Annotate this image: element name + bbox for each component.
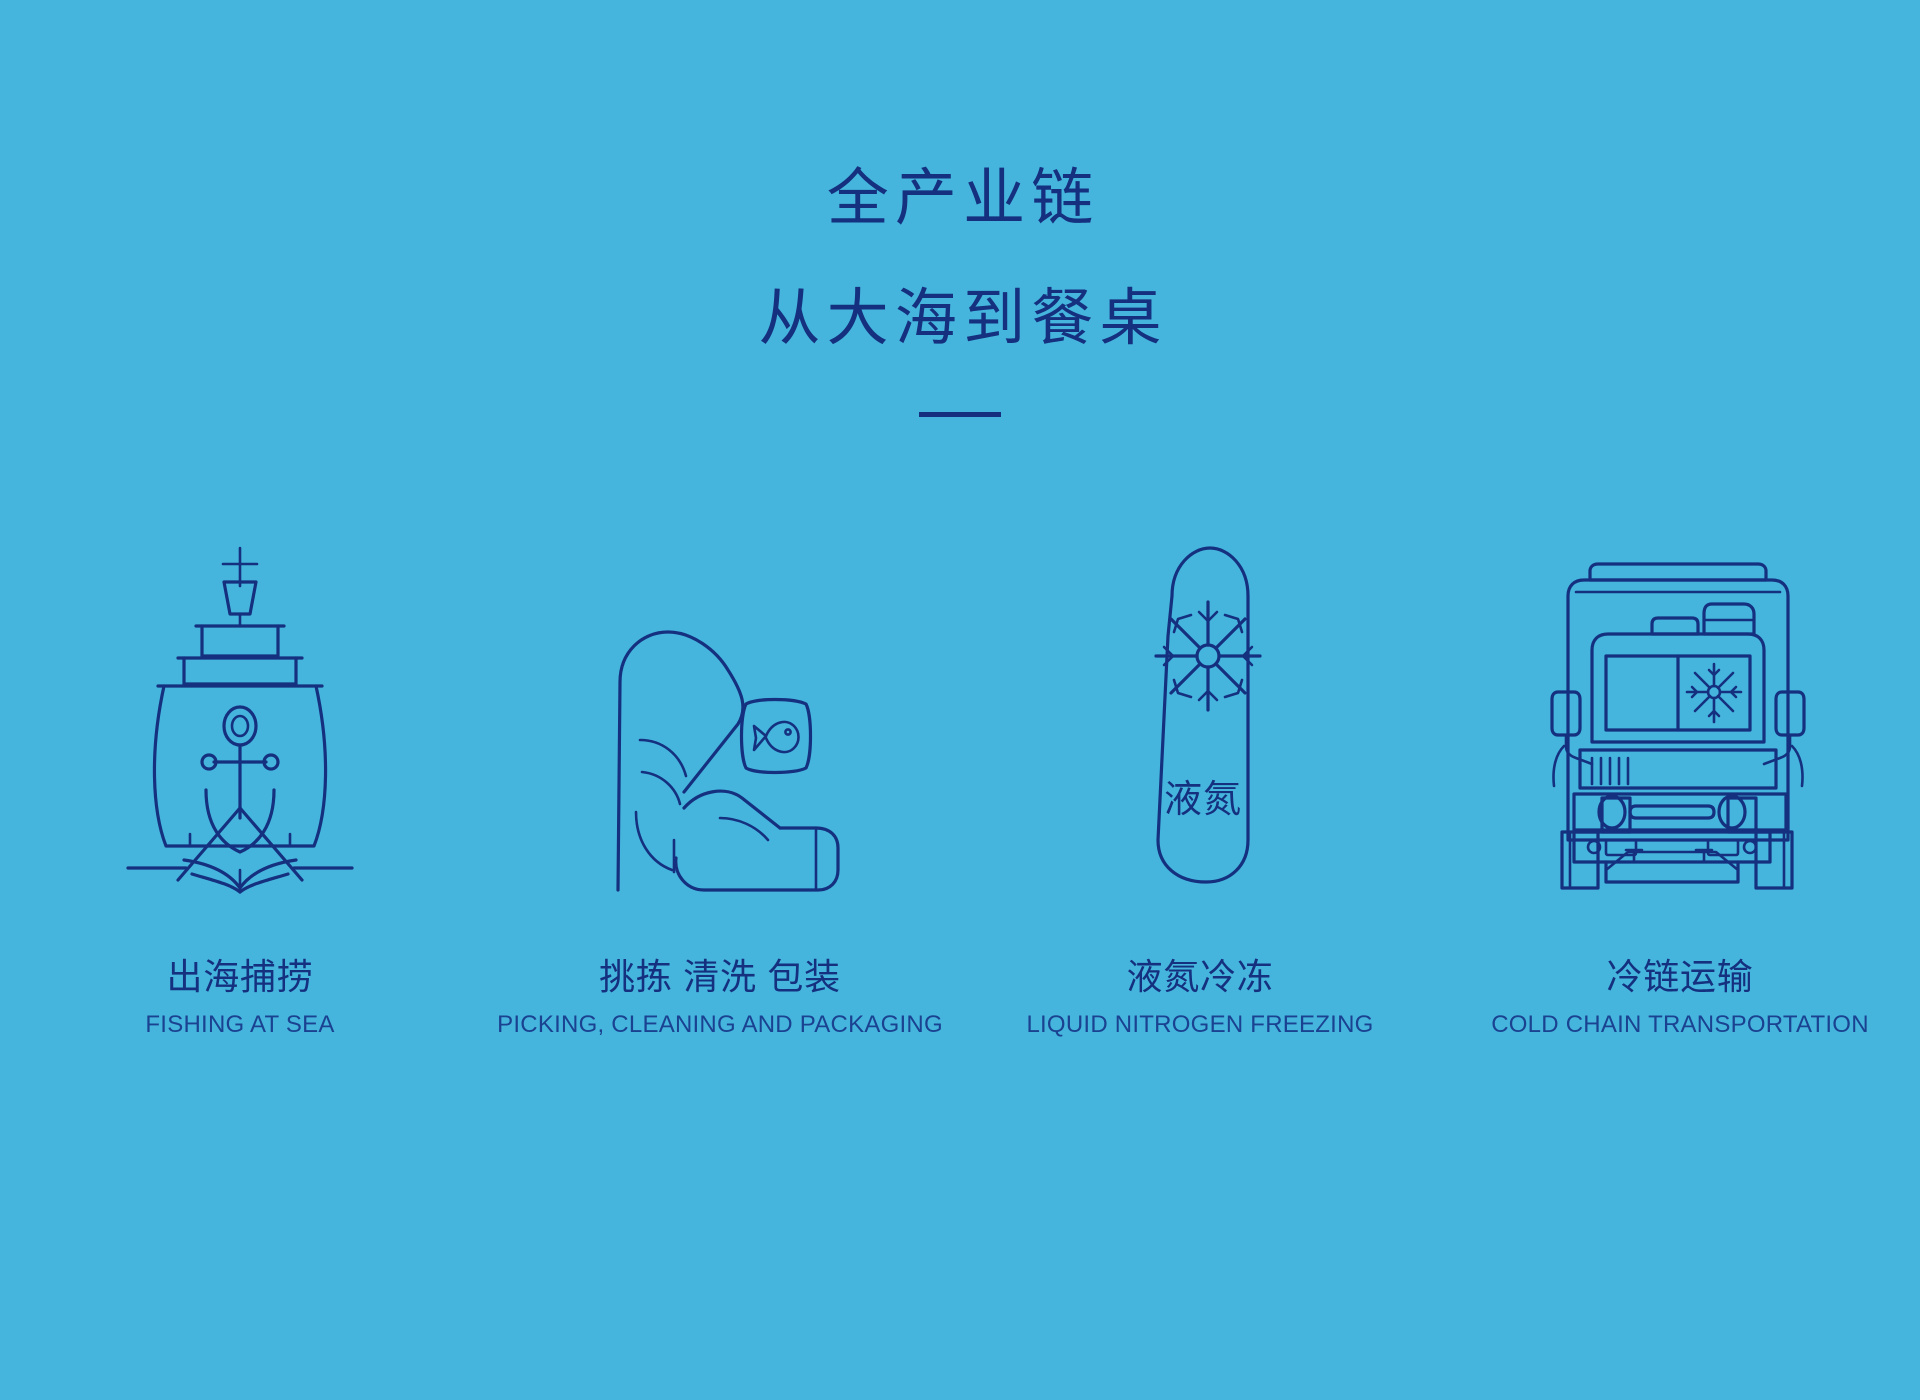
step-liquid-nitrogen-freezing[interactable]: 液氮 液氮冷冻 LIQUID NITROGEN FREEZING: [960, 520, 1440, 1039]
step-label-en: LIQUID NITROGEN FREEZING: [1026, 1011, 1373, 1039]
fishing-boat-icon: [120, 540, 360, 890]
tank-label: 液氮: [1164, 779, 1242, 821]
liquid-nitrogen-tank-icon: 液氮: [1120, 540, 1280, 890]
step-label-cn: 冷链运输: [1491, 956, 1869, 997]
header: 全产业链 从大海到餐桌: [0, 168, 1920, 417]
snowflake-icon: [1156, 602, 1260, 710]
title-divider: [919, 412, 1001, 417]
snowflake-icon: [1687, 664, 1741, 722]
page-title-line-2: 从大海到餐桌: [6, 288, 1920, 350]
page-title-line-1: 全产业链: [6, 168, 1920, 230]
step-labels: 冷链运输 COLD CHAIN TRANSPORTATION: [1491, 956, 1869, 1039]
step-label-en: COLD CHAIN TRANSPORTATION: [1491, 1011, 1869, 1039]
step-label-en: FISHING AT SEA: [145, 1011, 334, 1039]
hands-fish-package-icon: [580, 540, 860, 890]
refrigerated-truck-icon: [1540, 540, 1820, 890]
divider-wrap: [0, 412, 1920, 417]
step-label-cn: 挑拣 清洗 包装: [497, 956, 943, 997]
step-labels: 挑拣 清洗 包装 PICKING, CLEANING AND PACKAGING: [497, 956, 943, 1039]
step-fishing-at-sea[interactable]: 出海捕捞 FISHING AT SEA: [0, 520, 480, 1039]
step-icon-box: [580, 520, 860, 890]
step-cold-chain-transportation[interactable]: 冷链运输 COLD CHAIN TRANSPORTATION: [1440, 520, 1920, 1039]
step-picking-cleaning-packaging[interactable]: 挑拣 清洗 包装 PICKING, CLEANING AND PACKAGING: [480, 520, 960, 1039]
process-steps: 出海捕捞 FISHING AT SEA: [0, 520, 1920, 1039]
step-labels: 液氮冷冻 LIQUID NITROGEN FREEZING: [1026, 956, 1373, 1039]
step-labels: 出海捕捞 FISHING AT SEA: [145, 956, 334, 1039]
step-label-en: PICKING, CLEANING AND PACKAGING: [497, 1011, 943, 1039]
step-label-cn: 液氮冷冻: [1026, 956, 1373, 997]
step-icon-box: [1540, 520, 1820, 890]
poster-canvas: 全产业链 从大海到餐桌: [0, 0, 1920, 1400]
step-icon-box: 液氮: [1120, 520, 1280, 890]
step-icon-box: [120, 520, 360, 890]
step-label-cn: 出海捕捞: [145, 956, 334, 997]
